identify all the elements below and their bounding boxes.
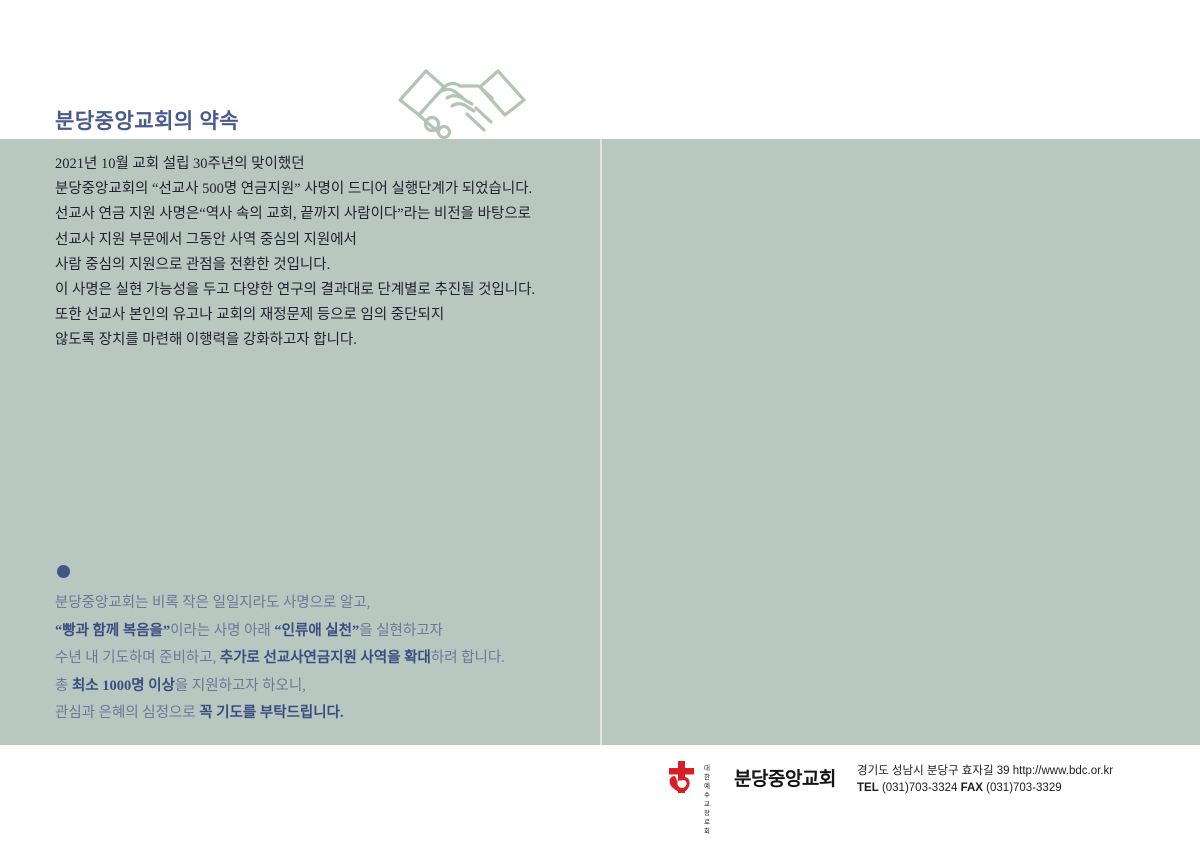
fax-label: FAX [961, 782, 983, 794]
denomination-label: 대한예수교 장 로 회 [704, 764, 710, 836]
promise-line-5: 사람 중심의 지원으로 관점을 전환한 것입니다. [55, 253, 525, 278]
denomination-line-2: 장 로 회 [704, 809, 710, 836]
promise-line-8: 않도록 장치를 마련해 이행력을 강화하고자 합니다. [55, 328, 525, 353]
denomination-line-1: 대한예수교 [704, 764, 710, 809]
contact-info: 경기도 성남시 분당구 효자길 39 http://www.bdc.or.kr … [857, 763, 1113, 797]
tel-value: (031)703-3324 [882, 782, 957, 794]
promise-line-1: 2021년 10월 교회 설립 30주년의 맞이했던 [55, 152, 525, 177]
promise-line-3: 선교사 연금 지원 사명은“역사 속의 교회, 끝까지 사람이다”라는 비전을 … [55, 202, 525, 227]
appeal-bullet-dot [57, 565, 70, 578]
promise-line-6: 이 사명은 실현 가능성을 두고 다양한 연구의 결과대로 단계별로 추진될 것… [55, 278, 525, 303]
fax-value: (031)703-3329 [986, 782, 1061, 794]
tel-label: TEL [857, 782, 879, 794]
appeal-line-3: 수년 내 기도하며 준비하고, 추가로 선교사연금지원 사역을 확대하려 합니다… [55, 645, 555, 673]
appeal-line-5: 관심과 은혜의 심정으로 꼭 기도를 부탁드립니다. [55, 700, 555, 728]
promise-body: 2021년 10월 교회 설립 30주년의 맞이했던분당중앙교회의 “선교사 5… [55, 152, 525, 354]
appeal-line-1: 분당중앙교회는 비록 작은 일일지라도 사명으로 알고, [55, 590, 555, 618]
church-cross-heart-logo-icon [666, 760, 700, 794]
handshake-icon [392, 52, 532, 144]
phone-line: TEL (031)703-3324 FAX (031)703-3329 [857, 780, 1113, 797]
appeal-paragraph: 분당중앙교회는 비록 작은 일일지라도 사명으로 알고,“빵과 함께 복음을”이… [55, 590, 555, 728]
promise-line-2: 분당중앙교회의 “선교사 500명 연금지원” 사명이 드디어 실행단계가 되었… [55, 177, 525, 202]
promise-heading: 분당중앙교회의 약속 [55, 105, 239, 135]
right-panel: 해외선교사 연금지원 모집요강 (2022년) 역사 속의 교회, 끝까지 사람… [600, 0, 1200, 848]
address-line: 경기도 성남시 분당구 효자길 39 http://www.bdc.or.kr [857, 763, 1113, 780]
left-panel: 분당중앙교회의 약속 2021년 10월 [0, 0, 600, 848]
appeal-line-2: “빵과 함께 복음을”이라는 사명 아래 “인류애 실천”을 실현하고자 [55, 618, 555, 646]
church-name-logotype: 분당중앙교회 [734, 764, 836, 791]
brochure-page: 분당중앙교회의 약속 2021년 10월 [0, 0, 1200, 848]
appeal-line-4: 총 최소 1000명 이상을 지원하고자 하오니, [55, 673, 555, 701]
promise-line-4: 선교사 지원 부문에서 그동안 사역 중심의 지원에서 [55, 228, 525, 253]
promise-line-7: 또한 선교사 본인의 유고나 교회의 재정문제 등으로 임의 중단되지 [55, 303, 525, 328]
